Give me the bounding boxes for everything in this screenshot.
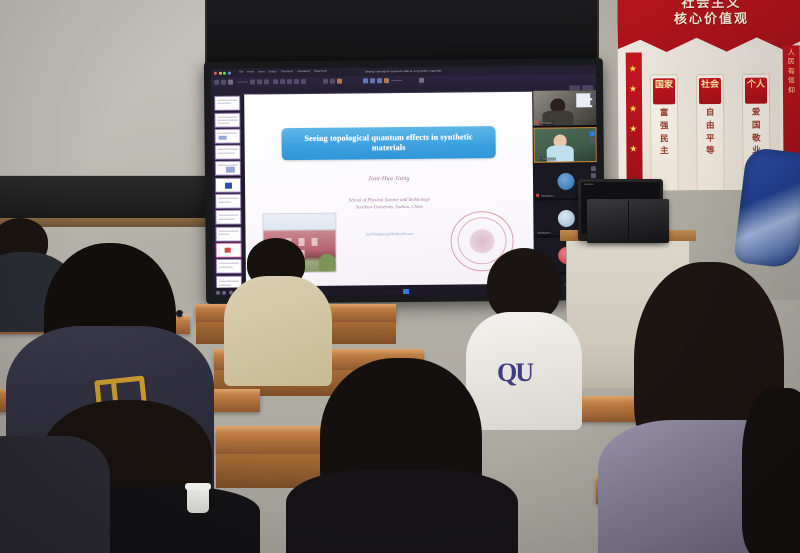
italic-icon[interactable] xyxy=(257,79,262,84)
ribbon-group-meeting[interactable] xyxy=(363,78,402,83)
camera-icon[interactable] xyxy=(591,166,596,171)
shapefill-icon[interactable] xyxy=(337,79,342,84)
tab-animations[interactable]: Animations xyxy=(297,69,310,72)
tab-design[interactable]: Design xyxy=(269,70,277,73)
poster-column-heading: 社会 xyxy=(699,78,721,104)
tab-insert[interactable]: Insert xyxy=(258,70,265,73)
avatar xyxy=(557,172,574,189)
poster-column-heading: 国家 xyxy=(653,78,675,104)
align-left-icon[interactable] xyxy=(273,79,278,84)
slide-thumbnail[interactable] xyxy=(214,112,240,127)
paste-icon[interactable] xyxy=(214,80,219,85)
poster-column-shehui: 社会 自由平等 xyxy=(696,74,725,191)
poster-title: 社会主义 核心价值观 xyxy=(617,0,800,29)
tab-file[interactable]: File xyxy=(239,70,243,73)
participant-name: Participant 1 xyxy=(539,121,554,124)
mic-icon[interactable] xyxy=(590,138,595,143)
podium-speaker xyxy=(587,199,669,243)
avatar xyxy=(557,209,574,226)
windows-taskbar-icon[interactable] xyxy=(403,289,409,294)
whiteboard xyxy=(0,0,207,176)
participant-name: Participant 4 xyxy=(536,231,551,234)
mic-icon[interactable] xyxy=(590,100,595,105)
mute-indicator xyxy=(536,194,539,197)
font-name-box[interactable] xyxy=(237,81,248,83)
ribbon-group-clipboard[interactable] xyxy=(214,80,233,85)
normal-view-icon[interactable] xyxy=(216,290,220,294)
poster-column-values: 自由平等 xyxy=(697,107,723,158)
mic-icon[interactable] xyxy=(591,173,596,178)
cut-icon[interactable] xyxy=(221,80,226,85)
tile-controls[interactable] xyxy=(591,166,596,178)
poster-left-red-band: ★ ★ ★ ★ ★ xyxy=(626,52,643,190)
sorter-view-icon[interactable] xyxy=(222,290,226,294)
chalk-rail xyxy=(0,176,216,220)
align-center-icon[interactable] xyxy=(280,79,285,84)
ribbon-group-paragraph[interactable] xyxy=(273,79,306,84)
shapes-icon[interactable] xyxy=(323,79,328,84)
paper-cup xyxy=(187,487,209,513)
tile-controls[interactable] xyxy=(590,93,595,105)
find-icon[interactable] xyxy=(419,78,424,83)
tile-controls[interactable] xyxy=(590,131,595,143)
ribbon-group-drawing[interactable] xyxy=(323,79,342,84)
camera-icon[interactable] xyxy=(590,131,595,136)
record-icon[interactable] xyxy=(384,78,389,83)
slide-title-banner: Seeing topological quantum effects in sy… xyxy=(282,126,495,161)
poster-title-line2: 核心价值观 xyxy=(617,12,800,30)
slide-thumbnail[interactable] xyxy=(215,161,241,176)
bold-icon[interactable] xyxy=(250,79,255,84)
slide-affiliation-line2: Soochow University, Suzhou, China xyxy=(245,202,533,212)
slide-title: Seeing topological quantum effects in sy… xyxy=(282,132,495,153)
video-icon[interactable] xyxy=(370,78,375,83)
poster-column-guojia: 国家 富强民主 xyxy=(650,74,679,190)
slide-thumbnail-rail[interactable] xyxy=(211,94,244,288)
slide-thumbnail-selected[interactable] xyxy=(216,243,242,258)
ribbon-group-font[interactable] xyxy=(237,79,269,84)
slide-thumbnail[interactable] xyxy=(215,226,241,241)
share-screen-icon[interactable] xyxy=(363,78,368,83)
paper-cup-lid xyxy=(185,483,211,490)
slide-thumbnail[interactable] xyxy=(215,177,241,192)
slide-affiliation: School of Physical Science and Technolog… xyxy=(245,195,533,212)
tab-transitions[interactable]: Transitions xyxy=(281,70,294,73)
poster-column-values: 富强民主 xyxy=(651,107,677,158)
lecture-hall-photo: 社会主义 核心价值观 ★ ★ ★ ★ ★ 国家 富强民主 社会 自由平等 个人 … xyxy=(0,0,800,553)
slide-author: Jian-Hua Jiang xyxy=(245,174,533,183)
participant-name: Participant 3 xyxy=(540,194,555,197)
ribbon-group-editing[interactable] xyxy=(419,78,424,83)
poster-side-slogan: 人民有信仰 xyxy=(783,45,800,165)
numbering-icon[interactable] xyxy=(294,79,299,84)
document-title: Seeing topological quantum effects in sy… xyxy=(365,70,442,74)
tab-slideshow[interactable]: Slide Show xyxy=(314,69,327,72)
slide-thumbnail[interactable] xyxy=(215,145,241,160)
participant-name: Participant 2 xyxy=(541,157,556,160)
slide-thumbnail[interactable] xyxy=(214,96,240,111)
bullets-icon[interactable] xyxy=(287,79,292,84)
indent-icon[interactable] xyxy=(301,79,306,84)
mute-indicator xyxy=(535,121,538,124)
slide-thumbnail[interactable] xyxy=(215,194,241,209)
ribbon-tabs[interactable]: File Home Insert Design Transitions Anim… xyxy=(239,69,327,73)
hoodie-graphic: QU xyxy=(497,358,551,402)
slide-thumbnail[interactable] xyxy=(216,259,242,274)
participant-tile-camera[interactable]: Participant 1 xyxy=(533,90,596,127)
participants-icon[interactable] xyxy=(377,78,382,83)
poster-column-heading: 个人 xyxy=(745,78,767,104)
slide-thumbnail[interactable] xyxy=(214,128,240,143)
participant-tile-active-speaker[interactable]: Participant 2 xyxy=(533,127,596,163)
window-controls[interactable] xyxy=(214,72,231,75)
arrange-icon[interactable] xyxy=(330,79,335,84)
tab-home[interactable]: Home xyxy=(247,70,254,73)
underline-icon[interactable] xyxy=(264,79,269,84)
slide-thumbnail[interactable] xyxy=(215,210,241,225)
monitor-brand-label: Lenovo xyxy=(584,182,594,186)
meeting-label xyxy=(391,80,402,82)
camera-icon[interactable] xyxy=(590,93,595,98)
newslide-icon[interactable] xyxy=(228,80,233,85)
